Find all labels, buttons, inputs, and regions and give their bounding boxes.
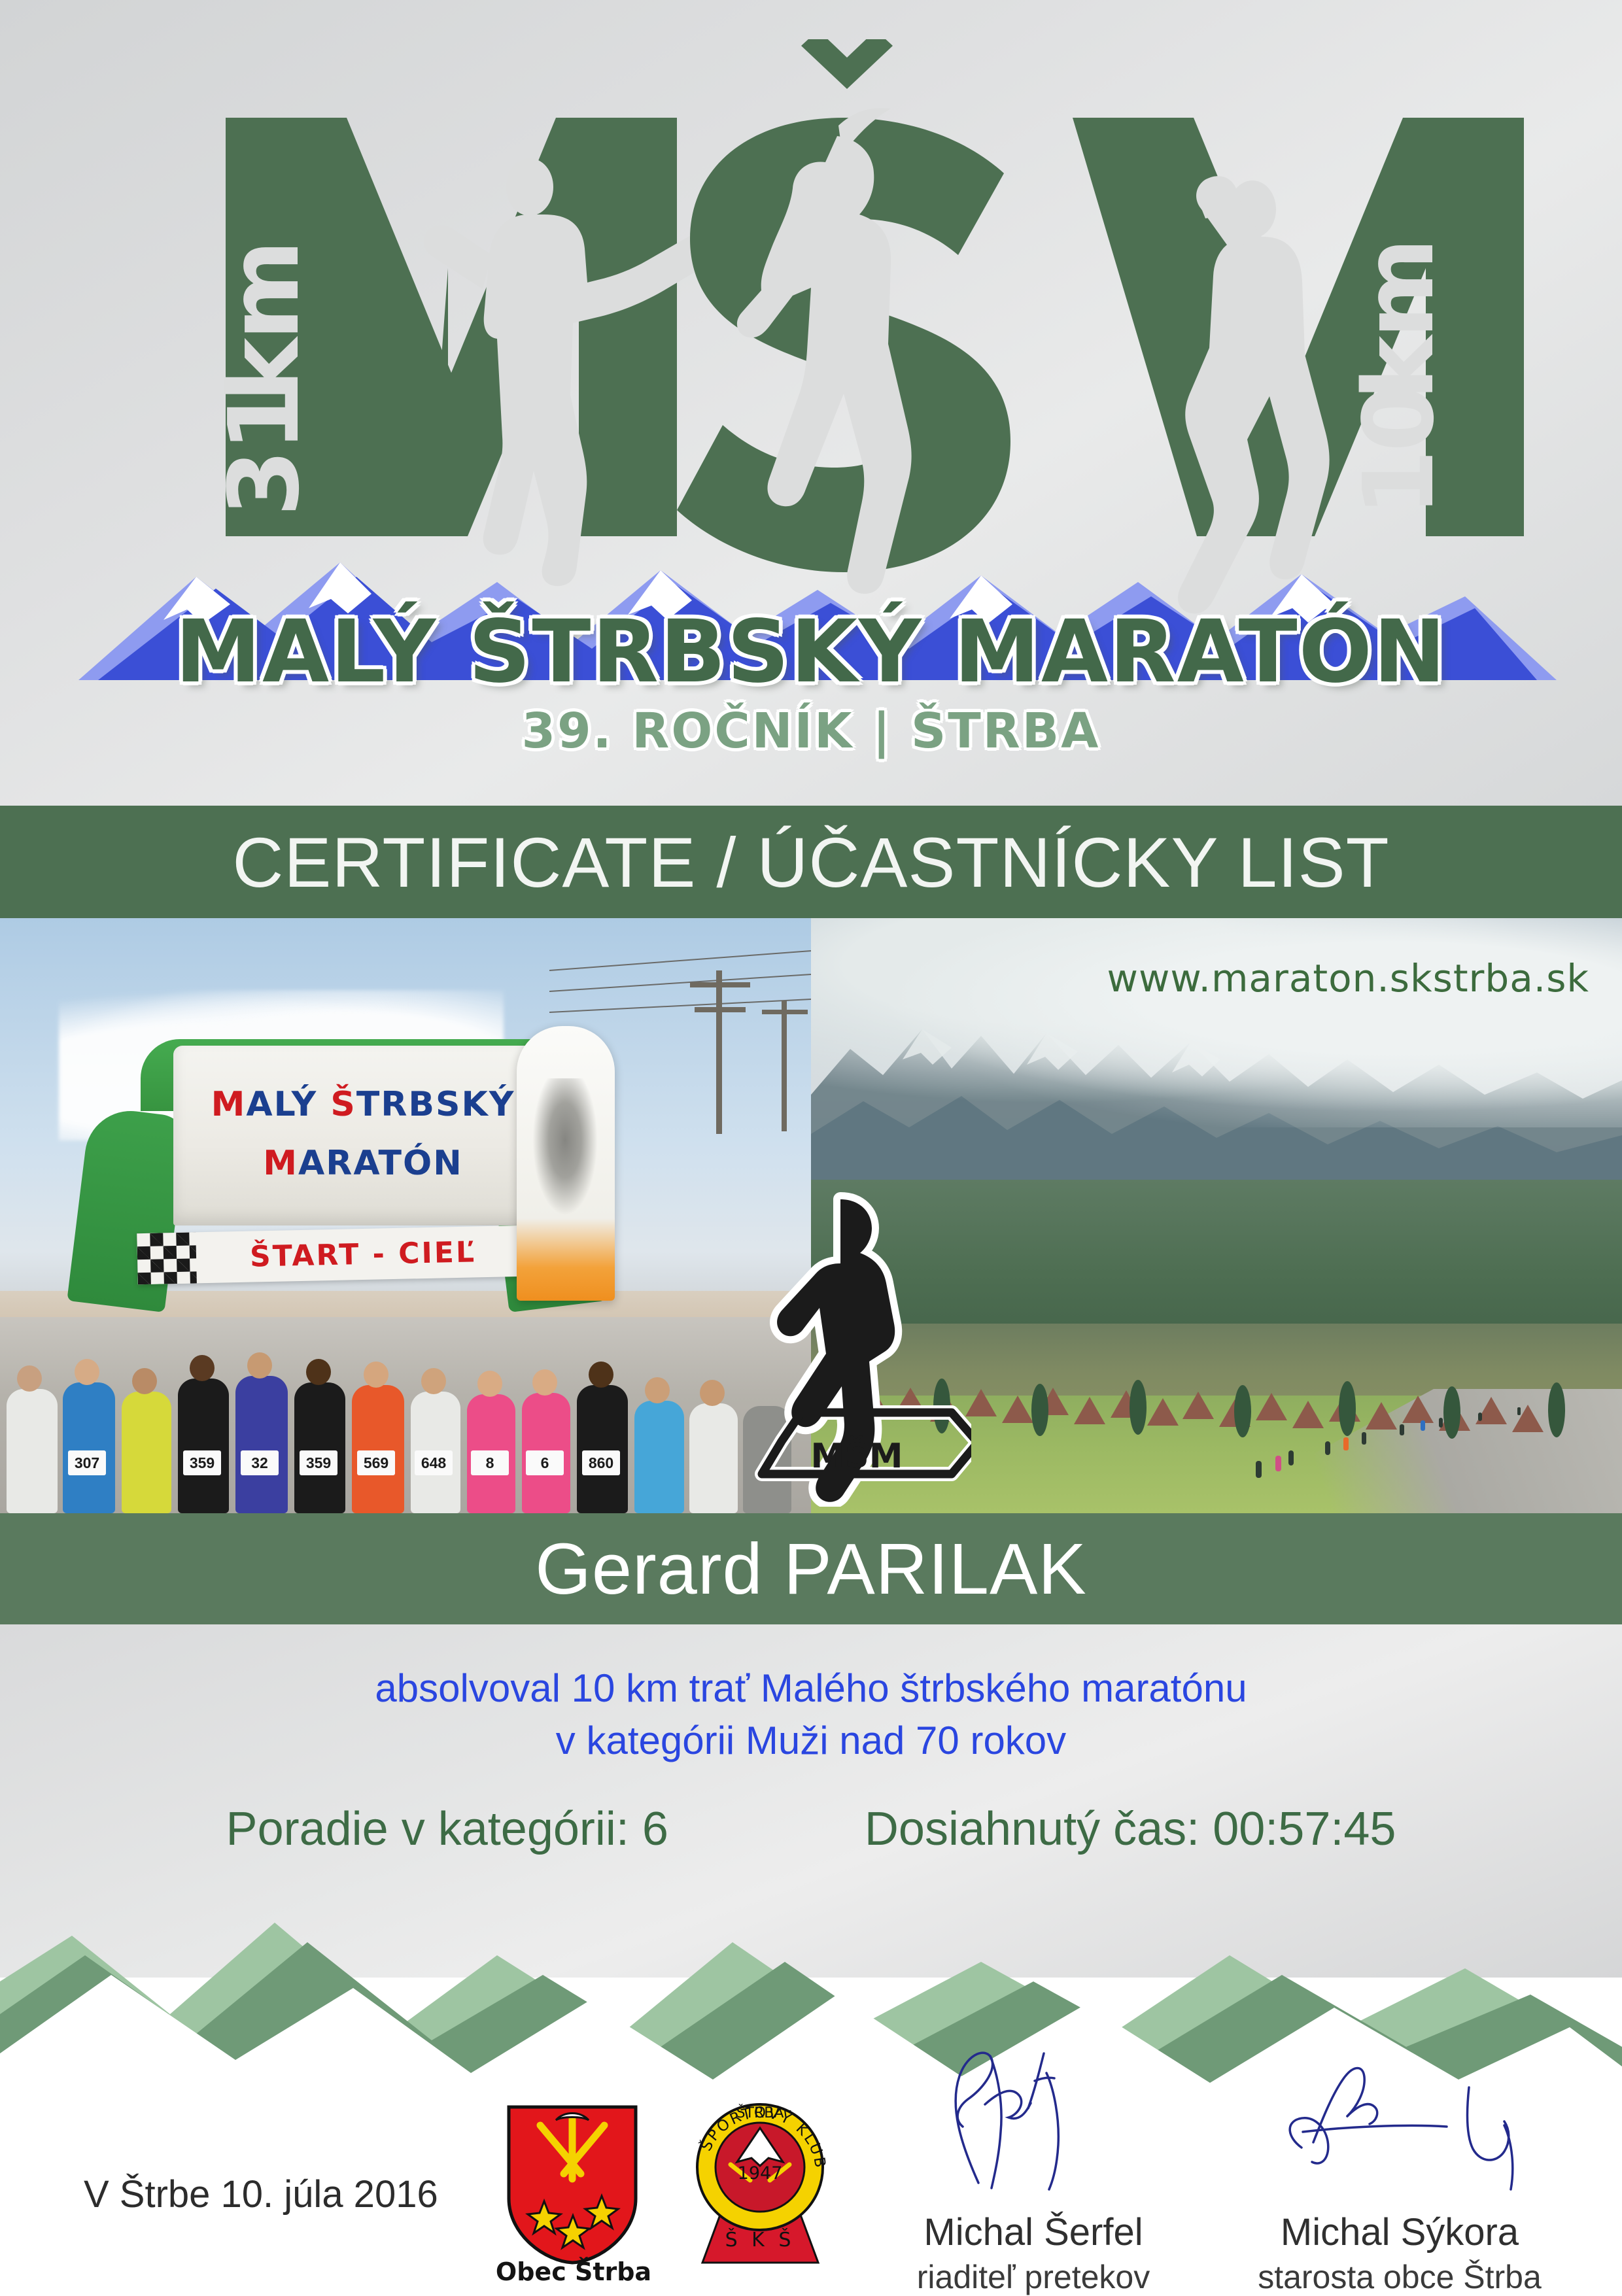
msm-logo-svg: 31 km <box>0 39 1622 615</box>
certificate-banner: CERTIFICATE / ÚČASTNÍCKY LIST <box>0 806 1622 918</box>
signature-name-director: Michal Šerfel <box>850 2210 1216 2254</box>
website-url[interactable]: www.maraton.skstrba.sk <box>1107 956 1589 1001</box>
results-row: Poradie v kategórii: 6 Dosiahnutý čas: 0… <box>0 1802 1622 1856</box>
description-line-2: v kategórii Muži nad 70 rokov <box>0 1715 1622 1767</box>
event-subtitle: 39. ROČNÍK | ŠTRBA <box>0 703 1622 759</box>
arch-line1-initial2: Š <box>330 1085 356 1124</box>
signature-ink-director-icon <box>850 2027 1216 2191</box>
participant-name: Gerard PARILAK <box>535 1528 1086 1611</box>
participant-name-band: Gerard PARILAK <box>0 1513 1622 1624</box>
sks-club-logo-icon: 1947 Š K Š ŠPORTOVÝ KLUB ŠTRBA <box>690 2099 831 2269</box>
photo-tatra-panorama: www.maraton.skstrba.sk <box>811 918 1622 1513</box>
finish-time: Dosiahnutý čas: 00:57:45 <box>865 1802 1396 1856</box>
sponsor-flag-logo-icon <box>532 1078 598 1216</box>
photo-race-start: MALÝ ŠTRBSKÝ MARATÓN ŠTART - CIEĽ <box>0 918 811 1513</box>
description-line-1: absolvoval 10 km trať Malého štrbského m… <box>0 1662 1622 1715</box>
arch-text-line2: MARATÓN <box>173 1144 553 1183</box>
runner-crowd: 307 359 32 359 569 648 8 <box>0 1317 811 1513</box>
signature-name-mayor: Michal Sýkora <box>1216 2210 1583 2254</box>
sks-town: ŠTRBA <box>736 2104 784 2121</box>
arch-line1-rest: ALÝ <box>246 1085 330 1124</box>
sks-abbreviation: Š K Š <box>725 2227 795 2252</box>
logo-letter-s <box>677 39 1010 594</box>
msm-logo-mark: 31 km <box>0 39 1622 615</box>
certificate-footer: V Štrbe 10. júla 2016 Obec Štrba <box>0 2027 1622 2294</box>
logo-letter-m-left: 31 km <box>208 118 721 586</box>
arch-line1-rest2: TRBSKÝ <box>356 1085 515 1124</box>
sks-founding-year: 1947 <box>738 2163 783 2184</box>
place-and-date: V Štrbe 10. júla 2016 <box>84 2172 438 2216</box>
arch-banner: MALÝ ŠTRBSKÝ MARATÓN <box>173 1046 553 1225</box>
obec-strba-coat-of-arms-icon <box>504 2103 641 2267</box>
svg-text:km: km <box>208 242 320 402</box>
svg-text:10: 10 <box>1343 387 1455 517</box>
sponsor-flag <box>517 1026 615 1301</box>
certificate-label: CERTIFICATE / ÚČASTNÍCKY LIST <box>232 821 1389 903</box>
start-finish-label: ŠTART - CIEĽ <box>250 1235 477 1273</box>
arch-line2-rest: ARATÓN <box>298 1144 463 1183</box>
event-title: MALÝ ŠTRBSKÝ MARATÓN <box>0 602 1622 702</box>
arch-line1-initial: M <box>211 1085 247 1124</box>
distant-runners-icon <box>1203 1382 1622 1513</box>
arch-text-line1: MALÝ ŠTRBSKÝ <box>173 1085 553 1124</box>
category-rank: Poradie v kategórii: 6 <box>226 1802 668 1856</box>
svg-text:31: 31 <box>208 387 320 517</box>
municipality-label: Obec Štrba <box>485 2257 662 2286</box>
achievement-description: absolvoval 10 km trať Malého štrbského m… <box>0 1662 1622 1768</box>
photo-strip: MALÝ ŠTRBSKÝ MARATÓN ŠTART - CIEĽ <box>0 918 1622 1513</box>
signature-role-mayor: starosta obce Štrba <box>1216 2258 1583 2296</box>
checker-flag-left-icon <box>137 1232 197 1284</box>
certificate-page: 31 km <box>0 0 1622 2294</box>
logo-header: 31 km <box>0 0 1622 806</box>
arch-line2-initial: M <box>263 1144 298 1183</box>
signature-ink-mayor-icon <box>1216 2027 1583 2191</box>
signature-block-mayor: Michal Sýkora starosta obce Štrba <box>1216 2080 1583 2296</box>
tatra-clouds <box>811 918 1622 1127</box>
svg-text:km: km <box>1343 240 1455 400</box>
signature-block-director: Michal Šerfel riaditeľ pretekov <box>850 2080 1216 2296</box>
signature-role-director: riaditeľ pretekov <box>850 2258 1216 2296</box>
